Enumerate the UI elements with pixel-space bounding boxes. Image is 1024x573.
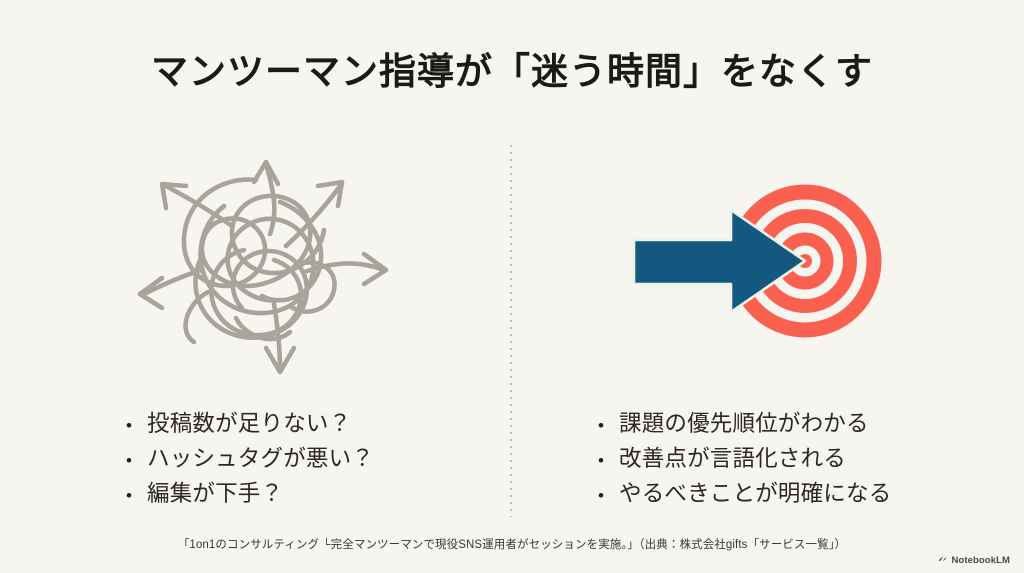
notebooklm-watermark: NotebookLM: [937, 553, 1010, 567]
slide-canvas: マンツーマン指導が「迷う時間」をなくす: [0, 0, 1024, 573]
notebooklm-logo-icon: [937, 553, 948, 567]
list-item-label: 投稿数が足りない？: [147, 406, 351, 438]
vertical-divider: [510, 145, 512, 517]
list-item-label: やるべきことが明確になる: [619, 476, 891, 508]
tangled-scribble-arrows-icon: [128, 142, 394, 382]
source-caption: 「1on1のコンサルティング └完全マンツーマンで現役SNS運用者がセッションを…: [0, 536, 1024, 552]
list-item-label: 改善点が言語化される: [619, 441, 846, 473]
bullet-marker-icon: •: [598, 487, 619, 504]
list-item: • 改善点が言語化される: [598, 441, 891, 476]
list-item: • 投稿数が足りない？: [126, 406, 374, 441]
bullet-marker-icon: •: [126, 452, 147, 469]
list-item: • やるべきことが明確になる: [598, 476, 891, 511]
bullet-marker-icon: •: [126, 417, 147, 434]
page-title: マンツーマン指導が「迷う時間」をなくす: [0, 50, 1024, 94]
list-item-label: ハッシュタグが悪い？: [147, 441, 374, 473]
list-item: • 課題の優先順位がわかる: [598, 406, 891, 441]
watermark-label: NotebookLM: [951, 555, 1010, 566]
left-bullet-list: • 投稿数が足りない？ • ハッシュタグが悪い？ • 編集が下手？: [126, 406, 374, 511]
right-bullet-list: • 課題の優先順位がわかる • 改善点が言語化される • やるべきことが明確にな…: [598, 406, 891, 511]
list-item-label: 課題の優先順位がわかる: [619, 406, 869, 438]
list-item: • 編集が下手？: [126, 476, 374, 511]
bullet-marker-icon: •: [598, 417, 619, 434]
bullet-marker-icon: •: [598, 452, 619, 469]
arrow-hitting-bullseye-target-icon: [620, 172, 892, 357]
bullet-marker-icon: •: [126, 487, 147, 504]
list-item: • ハッシュタグが悪い？: [126, 441, 374, 476]
list-item-label: 編集が下手？: [147, 476, 283, 508]
